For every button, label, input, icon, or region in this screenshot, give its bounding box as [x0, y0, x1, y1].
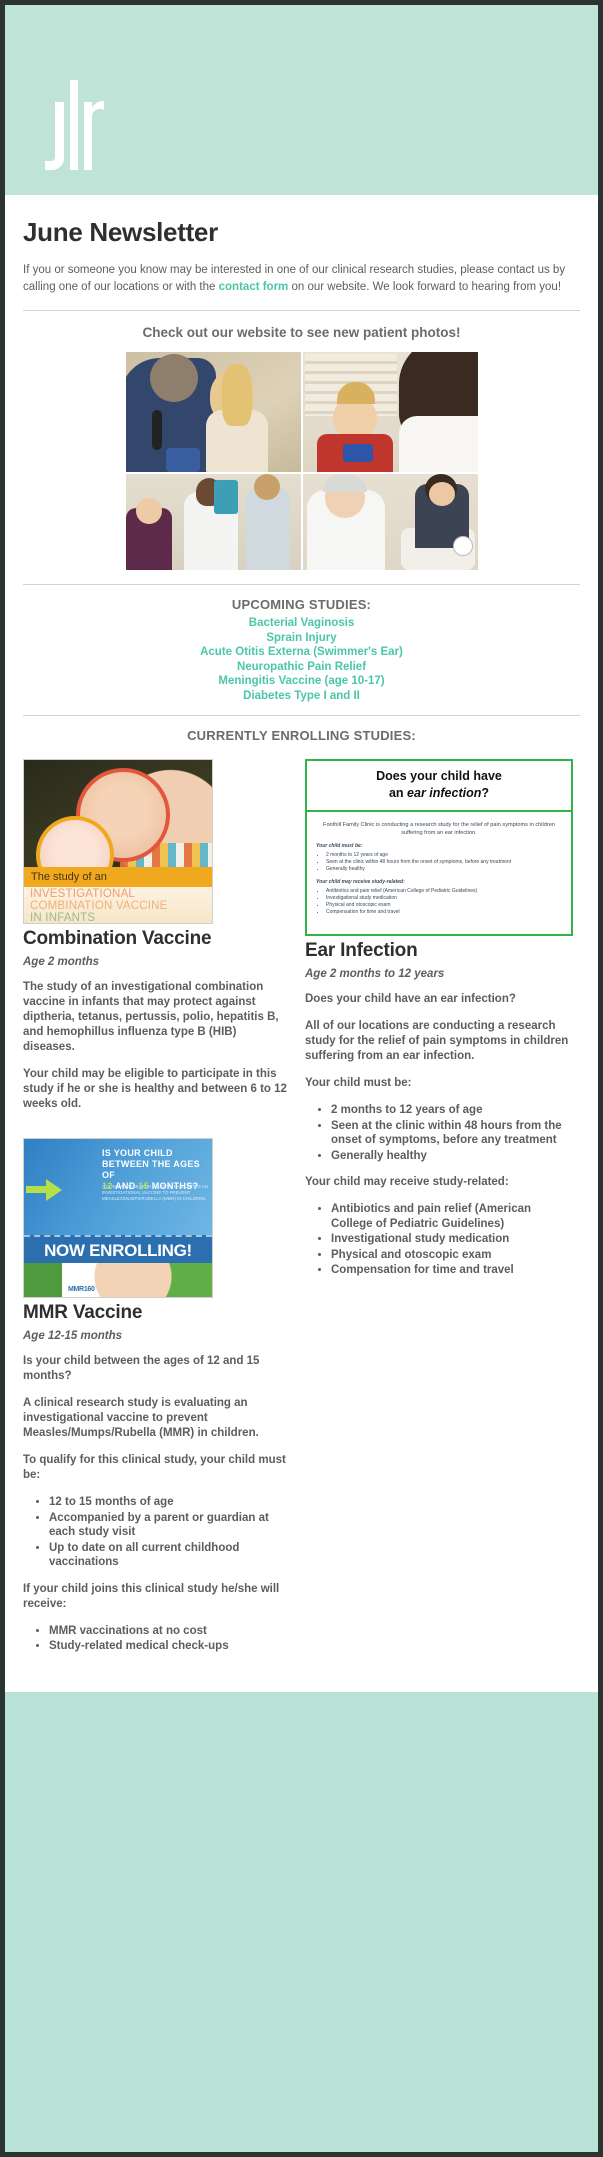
list-item: Seen at the clinic within 48 hours from …	[331, 1119, 573, 1148]
study-age-mmr-vaccine: Age 12-15 months	[23, 1330, 291, 1342]
study-age-ear-infection: Age 2 months to 12 years	[305, 968, 573, 980]
ear-flyer-question: Does your child have an ear infection?	[307, 761, 571, 812]
ear-flyer-must-label: Your child must be:	[316, 843, 562, 849]
study-paragraph: The study of an investigational combinat…	[23, 980, 291, 1055]
mmr-ad-banner: IS YOUR CHILD BETWEEN THE AGES OF 12 AND…	[24, 1139, 212, 1235]
newsletter-body: June Newsletter If you or someone you kn…	[5, 195, 598, 1692]
study-age-combination-vaccine: Age 2 months	[23, 956, 291, 968]
study-must-label: Your child must be:	[305, 1076, 573, 1091]
ear-flyer-question-mark: ?	[481, 786, 489, 800]
photo-ear-exam[interactable]	[126, 352, 301, 472]
combo-ad-line3: IN INFANTS	[24, 912, 212, 924]
ear-infection-flyer[interactable]: Does your child have an ear infection? F…	[305, 759, 573, 936]
patient-photos-heading: Check out our website to see new patient…	[23, 311, 580, 352]
enrolling-studies-heading: CURRENTLY ENROLLING STUDIES:	[23, 716, 580, 747]
intro-paragraph: If you or someone you know may be intere…	[23, 262, 580, 310]
contact-form-link[interactable]: contact form	[219, 281, 289, 293]
upcoming-study-item[interactable]: Sprain Injury	[23, 631, 580, 646]
list-item: Investigational study medication	[326, 895, 562, 902]
study-receive-label: If your child joins this clinical study …	[23, 1582, 291, 1612]
upcoming-study-item[interactable]: Neuropathic Pain Relief	[23, 660, 580, 675]
list-item: 2 months to 12 years of age	[331, 1103, 573, 1118]
studies-columns: The study of an INVESTIGATIONAL COMBINAT…	[23, 747, 580, 1666]
page-title: June Newsletter	[23, 195, 580, 262]
combination-vaccine-ad[interactable]: The study of an INVESTIGATIONAL COMBINAT…	[23, 759, 213, 924]
study-receive-label: Your child may receive study-related:	[305, 1175, 573, 1190]
study-must-list: 2 months to 12 years of age Seen at the …	[305, 1103, 573, 1163]
list-item: Physical and otoscopic exam	[326, 902, 562, 909]
intro-text-end: on our website. We look forward to heari…	[288, 281, 561, 293]
list-item: Generally healthy	[326, 866, 562, 873]
combo-ad-line2: COMBINATION VACCINE	[24, 900, 212, 912]
list-item: 12 to 15 months of age	[49, 1495, 291, 1510]
list-item: Accompanied by a parent or guardian at e…	[49, 1511, 291, 1540]
list-item: Antibiotics and pain relief (American Co…	[331, 1202, 573, 1231]
study-paragraph: Your child may be eligible to participat…	[23, 1067, 291, 1112]
study-qualify-label: To qualify for this clinical study, your…	[23, 1453, 291, 1483]
masthead	[5, 5, 598, 195]
jlr-logo[interactable]	[33, 72, 113, 177]
mmr-arrow-head-icon	[46, 1179, 62, 1201]
upcoming-study-item[interactable]: Acute Otitis Externa (Swimmer's Ear)	[23, 645, 580, 660]
list-item: Seen at the clinic within 48 hours from …	[326, 859, 562, 866]
list-item: Antibiotics and pain relief (American Co…	[326, 888, 562, 895]
study-paragraph: Does your child have an ear infection?	[305, 992, 573, 1007]
mmr-ad-subtext: A CLINICAL RESEARCH STUDY IS EVALUATING …	[102, 1184, 208, 1202]
mmr-head-line1: IS YOUR CHILD	[102, 1148, 208, 1159]
study-paragraph: A clinical research study is evaluating …	[23, 1396, 291, 1441]
list-item: Generally healthy	[331, 1149, 573, 1164]
list-item: Investigational study medication	[331, 1232, 573, 1247]
upcoming-study-item[interactable]: Bacterial Vaginosis	[23, 616, 580, 631]
newsletter-page: June Newsletter If you or someone you kn…	[0, 0, 603, 2157]
footer-band	[5, 1692, 598, 1962]
ear-flyer-receive-label: Your child may receive study-related:	[316, 879, 562, 885]
studies-left-column: The study of an INVESTIGATIONAL COMBINAT…	[23, 759, 291, 1666]
study-receive-list: MMR vaccinations at no cost Study-relate…	[23, 1624, 291, 1654]
photo-clinic-staff[interactable]	[126, 474, 301, 570]
list-item: 2 months to 12 years of age	[326, 852, 562, 859]
ear-flyer-question-an: an	[389, 786, 407, 800]
upcoming-studies-heading: UPCOMING STUDIES:	[23, 585, 580, 616]
upcoming-studies-list: Bacterial Vaginosis Sprain Injury Acute …	[23, 616, 580, 715]
study-title-combination-vaccine: Combination Vaccine	[23, 928, 291, 950]
ear-flyer-must-list: 2 months to 12 years of age Seen at the …	[316, 852, 562, 873]
ear-flyer-receive-list: Antibiotics and pain relief (American Co…	[316, 888, 562, 916]
ear-flyer-body: Foothill Family Clinic is conducting a r…	[307, 812, 571, 934]
list-item: Compensation for time and travel	[326, 909, 562, 916]
patient-photo-collage	[126, 352, 478, 584]
ear-flyer-lead: Foothill Family Clinic is conducting a r…	[316, 821, 562, 837]
ear-flyer-question-italic: ear infection	[407, 786, 481, 800]
mmr-vaccine-ad[interactable]: IS YOUR CHILD BETWEEN THE AGES OF 12 AND…	[23, 1138, 213, 1298]
list-item: Compensation for time and travel	[331, 1263, 573, 1278]
list-item: Up to date on all current childhood vacc…	[49, 1541, 291, 1570]
study-paragraph: All of our locations are conducting a re…	[305, 1019, 573, 1064]
combo-ad-band-text: The study of an	[24, 867, 212, 887]
study-receive-list: Antibiotics and pain relief (American Co…	[305, 1202, 573, 1278]
ear-flyer-question-line1: Does your child have	[313, 768, 565, 785]
combo-ad-footer: INVESTIGATIONAL COMBINATION VACCINE IN I…	[24, 887, 212, 923]
photo-boy-checkup[interactable]	[303, 352, 478, 472]
study-title-mmr-vaccine: MMR Vaccine	[23, 1302, 291, 1324]
study-qualify-list: 12 to 15 months of age Accompanied by a …	[23, 1495, 291, 1570]
photo-doctor-boy[interactable]	[303, 474, 478, 570]
mmr-ad-now-enrolling: NOW ENROLLING!	[24, 1235, 212, 1265]
mmr-ad-logo: MMR160	[68, 1286, 95, 1293]
mmr-ad-child-photo	[24, 1263, 212, 1297]
list-item: Physical and otoscopic exam	[331, 1248, 573, 1263]
studies-right-column: Does your child have an ear infection? F…	[305, 759, 573, 1290]
mmr-head-line2: BETWEEN THE AGES OF	[102, 1159, 208, 1181]
mmr-arrow-icon	[26, 1186, 48, 1193]
upcoming-study-item[interactable]: Diabetes Type I and II	[23, 689, 580, 704]
upcoming-study-item[interactable]: Meningitis Vaccine (age 10-17)	[23, 674, 580, 689]
list-item: Study-related medical check-ups	[49, 1639, 291, 1654]
study-title-ear-infection: Ear Infection	[305, 940, 573, 962]
study-paragraph: Is your child between the ages of 12 and…	[23, 1354, 291, 1384]
list-item: MMR vaccinations at no cost	[49, 1624, 291, 1639]
combo-ad-line1: INVESTIGATIONAL	[24, 887, 212, 900]
